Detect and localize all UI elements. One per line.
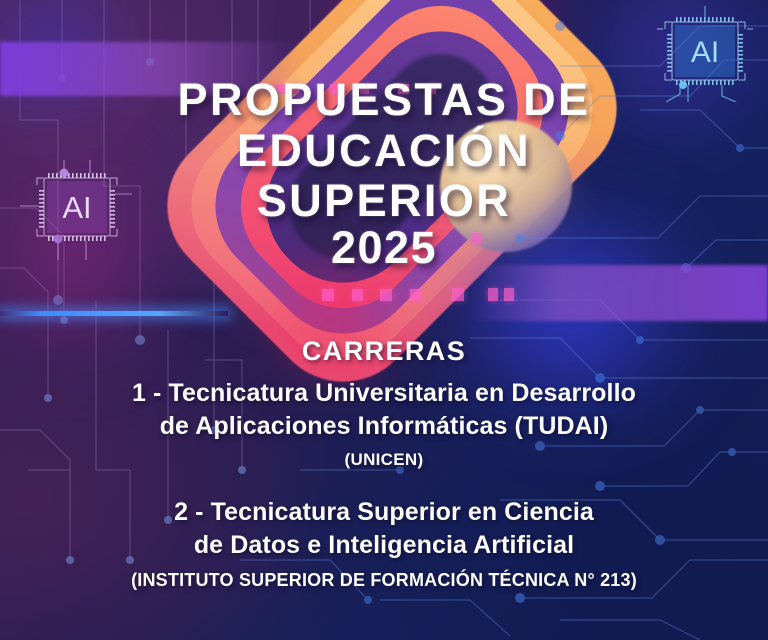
light-band-purple-right xyxy=(470,265,768,321)
title-line-2: EDUCACIÓN xyxy=(0,129,768,174)
spacer xyxy=(0,470,768,486)
pixel-dash xyxy=(410,289,421,301)
title-line-1: PROPUESTAS DE xyxy=(0,78,768,123)
career-item: 2 - Tecnicatura Superior en Ciencia de D… xyxy=(0,496,768,591)
careers-section: CARRERAS 1 - Tecnicatura Universitaria e… xyxy=(0,336,768,591)
title-line-4-year: 2025 xyxy=(0,226,768,271)
career-1-line-2: de Aplicaciones Informáticas (TUDAI) xyxy=(0,410,768,443)
career-2-line-2: de Datos e Inteligencia Artificial xyxy=(0,529,768,562)
career-1-line-1: 1 - Tecnicatura Universitaria en Desarro… xyxy=(0,377,768,410)
poster-canvas: AI xyxy=(0,0,768,640)
light-band-cyan xyxy=(0,311,228,316)
career-item: 1 - Tecnicatura Universitaria en Desarro… xyxy=(0,377,768,470)
pixel-dash xyxy=(504,288,514,301)
pixel-dash xyxy=(322,289,334,301)
ai-chip-label: AI xyxy=(691,36,719,69)
career-2-line-1: 2 - Tecnicatura Superior en Ciencia xyxy=(0,496,768,529)
poster-title: PROPUESTAS DE EDUCACIÓN SUPERIOR 2025 xyxy=(0,78,768,270)
pixel-dash xyxy=(452,288,464,301)
pixel-dash xyxy=(352,289,363,301)
section-heading: CARRERAS xyxy=(0,336,768,367)
career-2-institution: (INSTITUTO SUPERIOR DE FORMACIÓN TÉCNICA… xyxy=(0,570,768,591)
pixel-dash xyxy=(488,288,498,301)
title-line-3: SUPERIOR xyxy=(0,179,768,224)
career-1-institution: (UNICEN) xyxy=(0,450,768,470)
pixel-dash xyxy=(380,289,392,301)
